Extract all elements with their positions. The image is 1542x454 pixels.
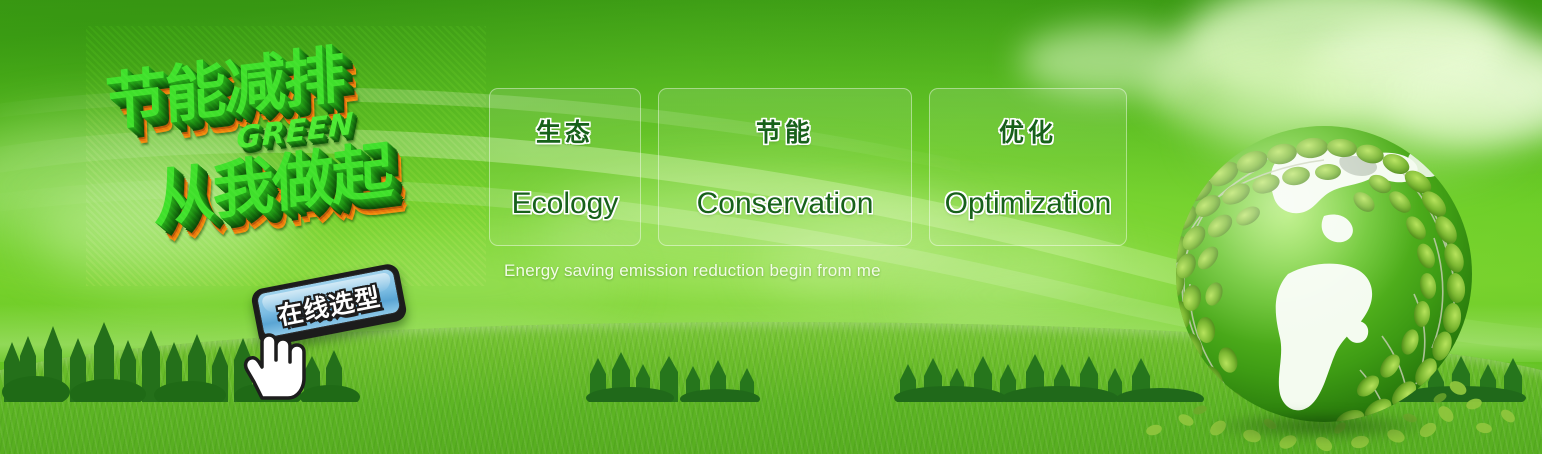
feature-card-en-label: Optimization [945, 187, 1112, 221]
globe-svg [1128, 98, 1528, 454]
feature-card-ecology[interactable]: 生态 Ecology [489, 88, 641, 246]
headline-overlay-green: GREEN [236, 107, 355, 157]
feature-card-cn-label: 节能 [756, 113, 814, 149]
headline-texture [86, 26, 486, 286]
leafy-earth-globe-icon [1128, 98, 1528, 454]
headline-line-1: 节能减排 [103, 23, 344, 143]
cloud-icon [1180, 0, 1510, 110]
feature-card-conservation[interactable]: 节能 Conservation [658, 88, 912, 246]
globe-shadow [1156, 404, 1486, 448]
cloud-icon [0, 120, 280, 250]
cloud-icon [40, 178, 300, 288]
cloud-icon [1020, 26, 1200, 96]
headline-3d-block: 节能减排 从我做起 GREEN [86, 26, 486, 286]
feature-card-cn-label: 优化 [999, 113, 1057, 149]
feature-card-en-label: Ecology [512, 187, 619, 221]
headline-line-2: 从我做起 [151, 119, 392, 239]
feature-card-en-label: Conservation [697, 187, 874, 221]
feature-card-optimization[interactable]: 优化 Optimization [929, 88, 1127, 246]
eco-hero-banner: 节能减排 从我做起 GREEN 在线选型 生态 Ecology 节能 Conse… [0, 0, 1542, 454]
tagline: Energy saving emission reduction begin f… [504, 261, 881, 281]
feature-card-list: 生态 Ecology 节能 Conservation 优化 Optimizati… [489, 88, 1127, 246]
feature-card-cn-label: 生态 [536, 113, 594, 149]
